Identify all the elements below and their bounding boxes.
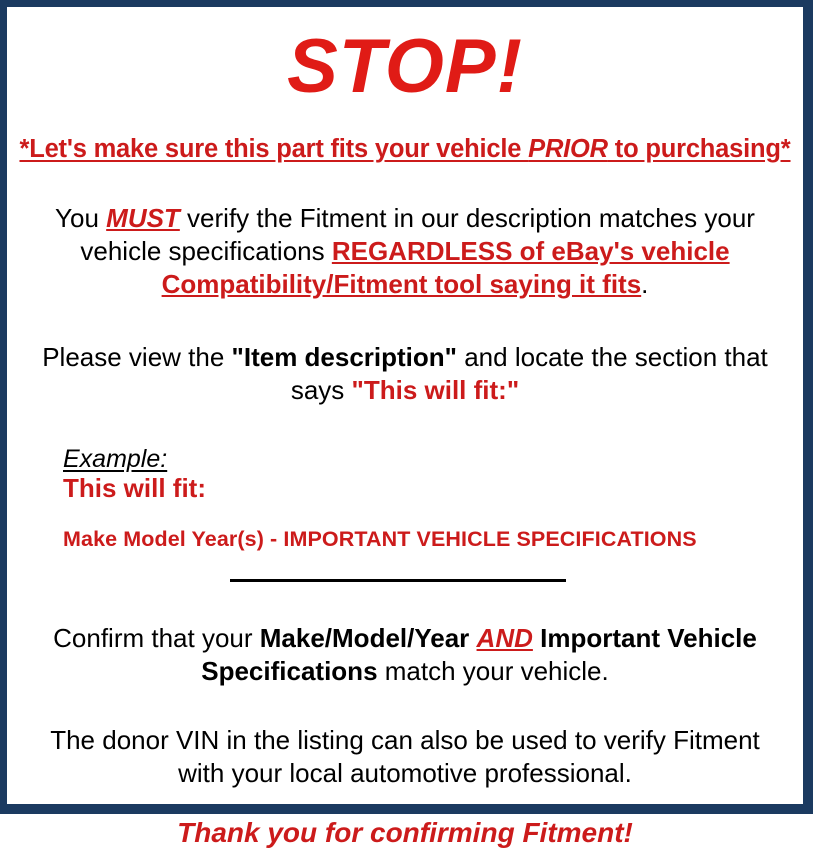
paragraph-must-verify: You MUST verify the Fitment in our descr… xyxy=(15,202,795,301)
example-fit-heading: This will fit: xyxy=(63,474,795,504)
must-part3: . xyxy=(641,269,648,299)
example-block: Example: This will fit: Make Model Year(… xyxy=(15,445,795,552)
item-description-emphasis: "Item description" xyxy=(232,342,457,372)
thank-you-message: Thank you for confirming Fitment! xyxy=(15,816,795,850)
notice-content: STOP! *Let's make sure this part fits yo… xyxy=(7,29,803,826)
make-model-year-emphasis: Make/Model/Year xyxy=(260,623,470,653)
example-spec-line: Make Model Year(s) - IMPORTANT VEHICLE S… xyxy=(63,527,795,552)
paragraph-confirm: Confirm that your Make/Model/Year AND Im… xyxy=(15,622,795,688)
this-will-fit-emphasis: "This will fit:" xyxy=(352,375,520,405)
subtitle-banner: *Let's make sure this part fits your veh… xyxy=(15,135,795,164)
must-emphasis: MUST xyxy=(106,203,180,233)
fitment-notice-card: STOP! *Let's make sure this part fits yo… xyxy=(0,0,813,814)
confirm-part1: Confirm that your xyxy=(53,623,260,653)
view-part1: Please view the xyxy=(42,342,231,372)
subtitle-prefix: *Let's make sure this part fits your veh… xyxy=(19,135,528,163)
and-emphasis: AND xyxy=(477,623,533,653)
confirm-part2: match your vehicle. xyxy=(378,656,609,686)
paragraph-donor-vin: The donor VIN in the listing can also be… xyxy=(15,724,795,790)
paragraph-view-description: Please view the "Item description" and l… xyxy=(15,341,795,407)
section-divider xyxy=(15,576,795,586)
example-label: Example: xyxy=(63,445,167,473)
divider-rule xyxy=(230,579,566,582)
must-part1: You xyxy=(55,203,106,233)
subtitle-emphasis: PRIOR xyxy=(528,135,608,163)
subtitle-suffix: to purchasing* xyxy=(608,135,791,163)
page-title: STOP! xyxy=(15,29,795,105)
